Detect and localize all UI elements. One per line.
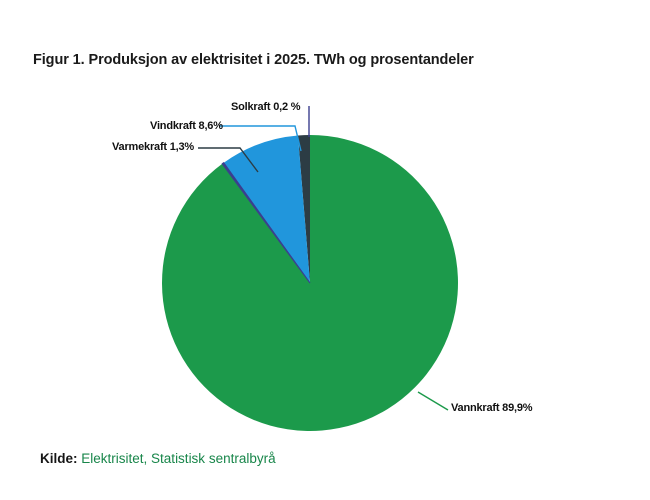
figure-container: Figur 1. Produksjon av elektrisitet i 20… (0, 0, 650, 500)
pie-label-solkraft: Solkraft 0,2 % (231, 101, 300, 113)
source-prefix-label: Kilde: (40, 451, 78, 466)
pie-chart (0, 0, 650, 500)
source-note: Kilde: Elektrisitet, Statistisk sentralb… (40, 451, 276, 466)
source-link[interactable]: Elektrisitet, Statistisk sentralbyrå (81, 451, 275, 466)
leader-line-vannkraft (418, 392, 448, 410)
pie-label-vannkraft: Vannkraft 89,9% (451, 402, 532, 414)
pie-label-varmekraft: Varmekraft 1,3% (112, 141, 194, 153)
pie-label-vindkraft: Vindkraft 8,6% (150, 120, 223, 132)
